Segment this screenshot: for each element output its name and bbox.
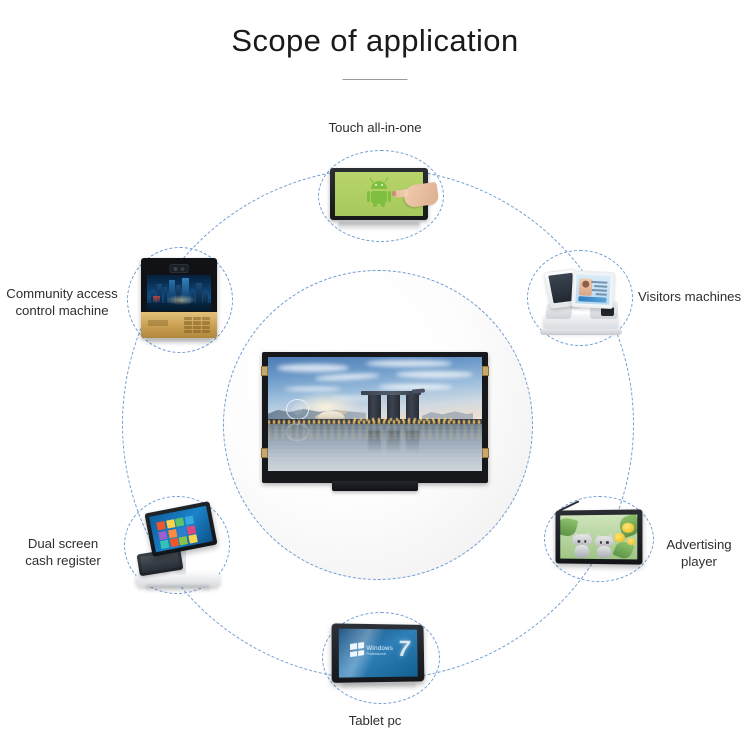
kitten [572, 534, 592, 557]
fingernail [392, 191, 397, 196]
gold-keypad-panel [141, 312, 217, 338]
panel-bezel [262, 352, 488, 483]
camera-icon [170, 264, 189, 273]
diagram-canvas: Scope of application [0, 0, 750, 750]
device-reflection [342, 683, 416, 690]
panel-foot-tab [332, 481, 418, 491]
pos-main-display [144, 501, 217, 557]
panel-connector-tab [482, 448, 489, 458]
keypad-key[interactable] [184, 326, 192, 329]
tile [185, 516, 194, 525]
device-reflection [338, 222, 420, 231]
keypad-key[interactable] [184, 330, 192, 333]
panel-screen [268, 357, 482, 471]
keypad-key[interactable] [193, 321, 201, 324]
robot-leg [381, 202, 385, 207]
tile [175, 517, 184, 526]
label-dual-screen-cash-register: Dual screen cash register [0, 535, 126, 569]
display-frame [556, 509, 643, 564]
body [574, 545, 589, 558]
label-tablet-pc: Tablet pc [0, 712, 750, 729]
body [597, 546, 611, 558]
tile [179, 536, 188, 545]
panel-connector-tab [261, 448, 268, 458]
label-community-access-control-machine: Community access control machine [0, 285, 124, 319]
tablet-pc-device: Windows Professional 7 [332, 622, 430, 688]
singapore-flyer-icon [286, 399, 308, 419]
tile [168, 529, 177, 538]
label-advertising-player: Advertising player [648, 536, 750, 570]
community-access-control-device [141, 258, 219, 342]
keypad-key[interactable] [193, 317, 201, 320]
ui-action-bar [578, 296, 606, 302]
cloud [285, 387, 341, 392]
mbs-skypark [361, 391, 421, 395]
building [203, 291, 207, 303]
center-lcd-panel [262, 352, 488, 492]
visitors-machine-device [538, 262, 624, 332]
label-touch-all-in-one: Touch all-in-one [0, 119, 750, 136]
screen-glare [339, 629, 395, 678]
touch-all-in-one-device [330, 168, 434, 224]
kitten [595, 536, 614, 557]
tile [169, 538, 178, 547]
tile-grid [156, 516, 197, 550]
device-shell [141, 258, 217, 338]
keypad-key[interactable] [184, 317, 192, 320]
windows7-screen: Windows Professional 7 [339, 629, 418, 678]
kiosk-foot [540, 329, 622, 335]
tile [186, 525, 195, 534]
tile [177, 527, 186, 536]
title-divider [343, 79, 408, 80]
label-visitors-machines: Visitors machines [638, 288, 750, 305]
water-sheen [268, 422, 482, 471]
marina-bay-sands-image [268, 357, 482, 471]
keypad-key[interactable] [193, 326, 201, 329]
building [196, 283, 202, 303]
keypad-key[interactable] [193, 330, 201, 333]
page-title: Scope of application [0, 24, 750, 58]
device-reflection [146, 585, 210, 593]
tablet-frame: Windows Professional 7 [332, 623, 425, 682]
shore-lights [354, 418, 452, 421]
yellow-flower [614, 533, 624, 541]
robot-arm [367, 191, 370, 202]
ui-text-line [591, 281, 607, 283]
checkin-ui [575, 274, 610, 305]
brand-mark [148, 320, 168, 326]
windows-version-number: 7 [398, 638, 410, 660]
ui-text-line [596, 293, 607, 295]
keypad-key[interactable] [202, 326, 210, 329]
ui-text-line [592, 289, 607, 291]
panel-connector-tab [482, 366, 489, 376]
android-robot-icon [367, 181, 391, 207]
tile [158, 530, 167, 539]
keypad-key[interactable] [184, 321, 192, 324]
ui-text-line [594, 285, 607, 287]
tile [166, 519, 175, 528]
yellow-flower [622, 523, 634, 533]
dual-screen-cash-register-device [132, 505, 224, 587]
windows-tile-screen [149, 506, 213, 552]
tile [156, 521, 165, 530]
keypad-key[interactable] [202, 321, 210, 324]
keypad-key[interactable] [202, 330, 210, 333]
cloud [277, 364, 350, 372]
tile [188, 534, 197, 543]
keypad-key[interactable] [202, 317, 210, 320]
eye [577, 540, 580, 543]
robot-leg [373, 202, 377, 207]
eye [606, 541, 609, 544]
antenna [384, 177, 388, 183]
keypad[interactable] [184, 317, 210, 333]
yellow-flower [627, 538, 636, 545]
tile [160, 540, 169, 549]
cloud [396, 371, 473, 378]
kiosk-primary-screen [571, 270, 615, 309]
robot-arm [388, 191, 391, 202]
red-light [153, 296, 159, 302]
skyline-screen [147, 275, 211, 311]
panel-connector-tab [261, 366, 268, 376]
screen-glow [166, 295, 195, 304]
kitten-screen [560, 515, 637, 560]
advertising-player-device [554, 506, 646, 568]
device-reflection [147, 339, 211, 346]
